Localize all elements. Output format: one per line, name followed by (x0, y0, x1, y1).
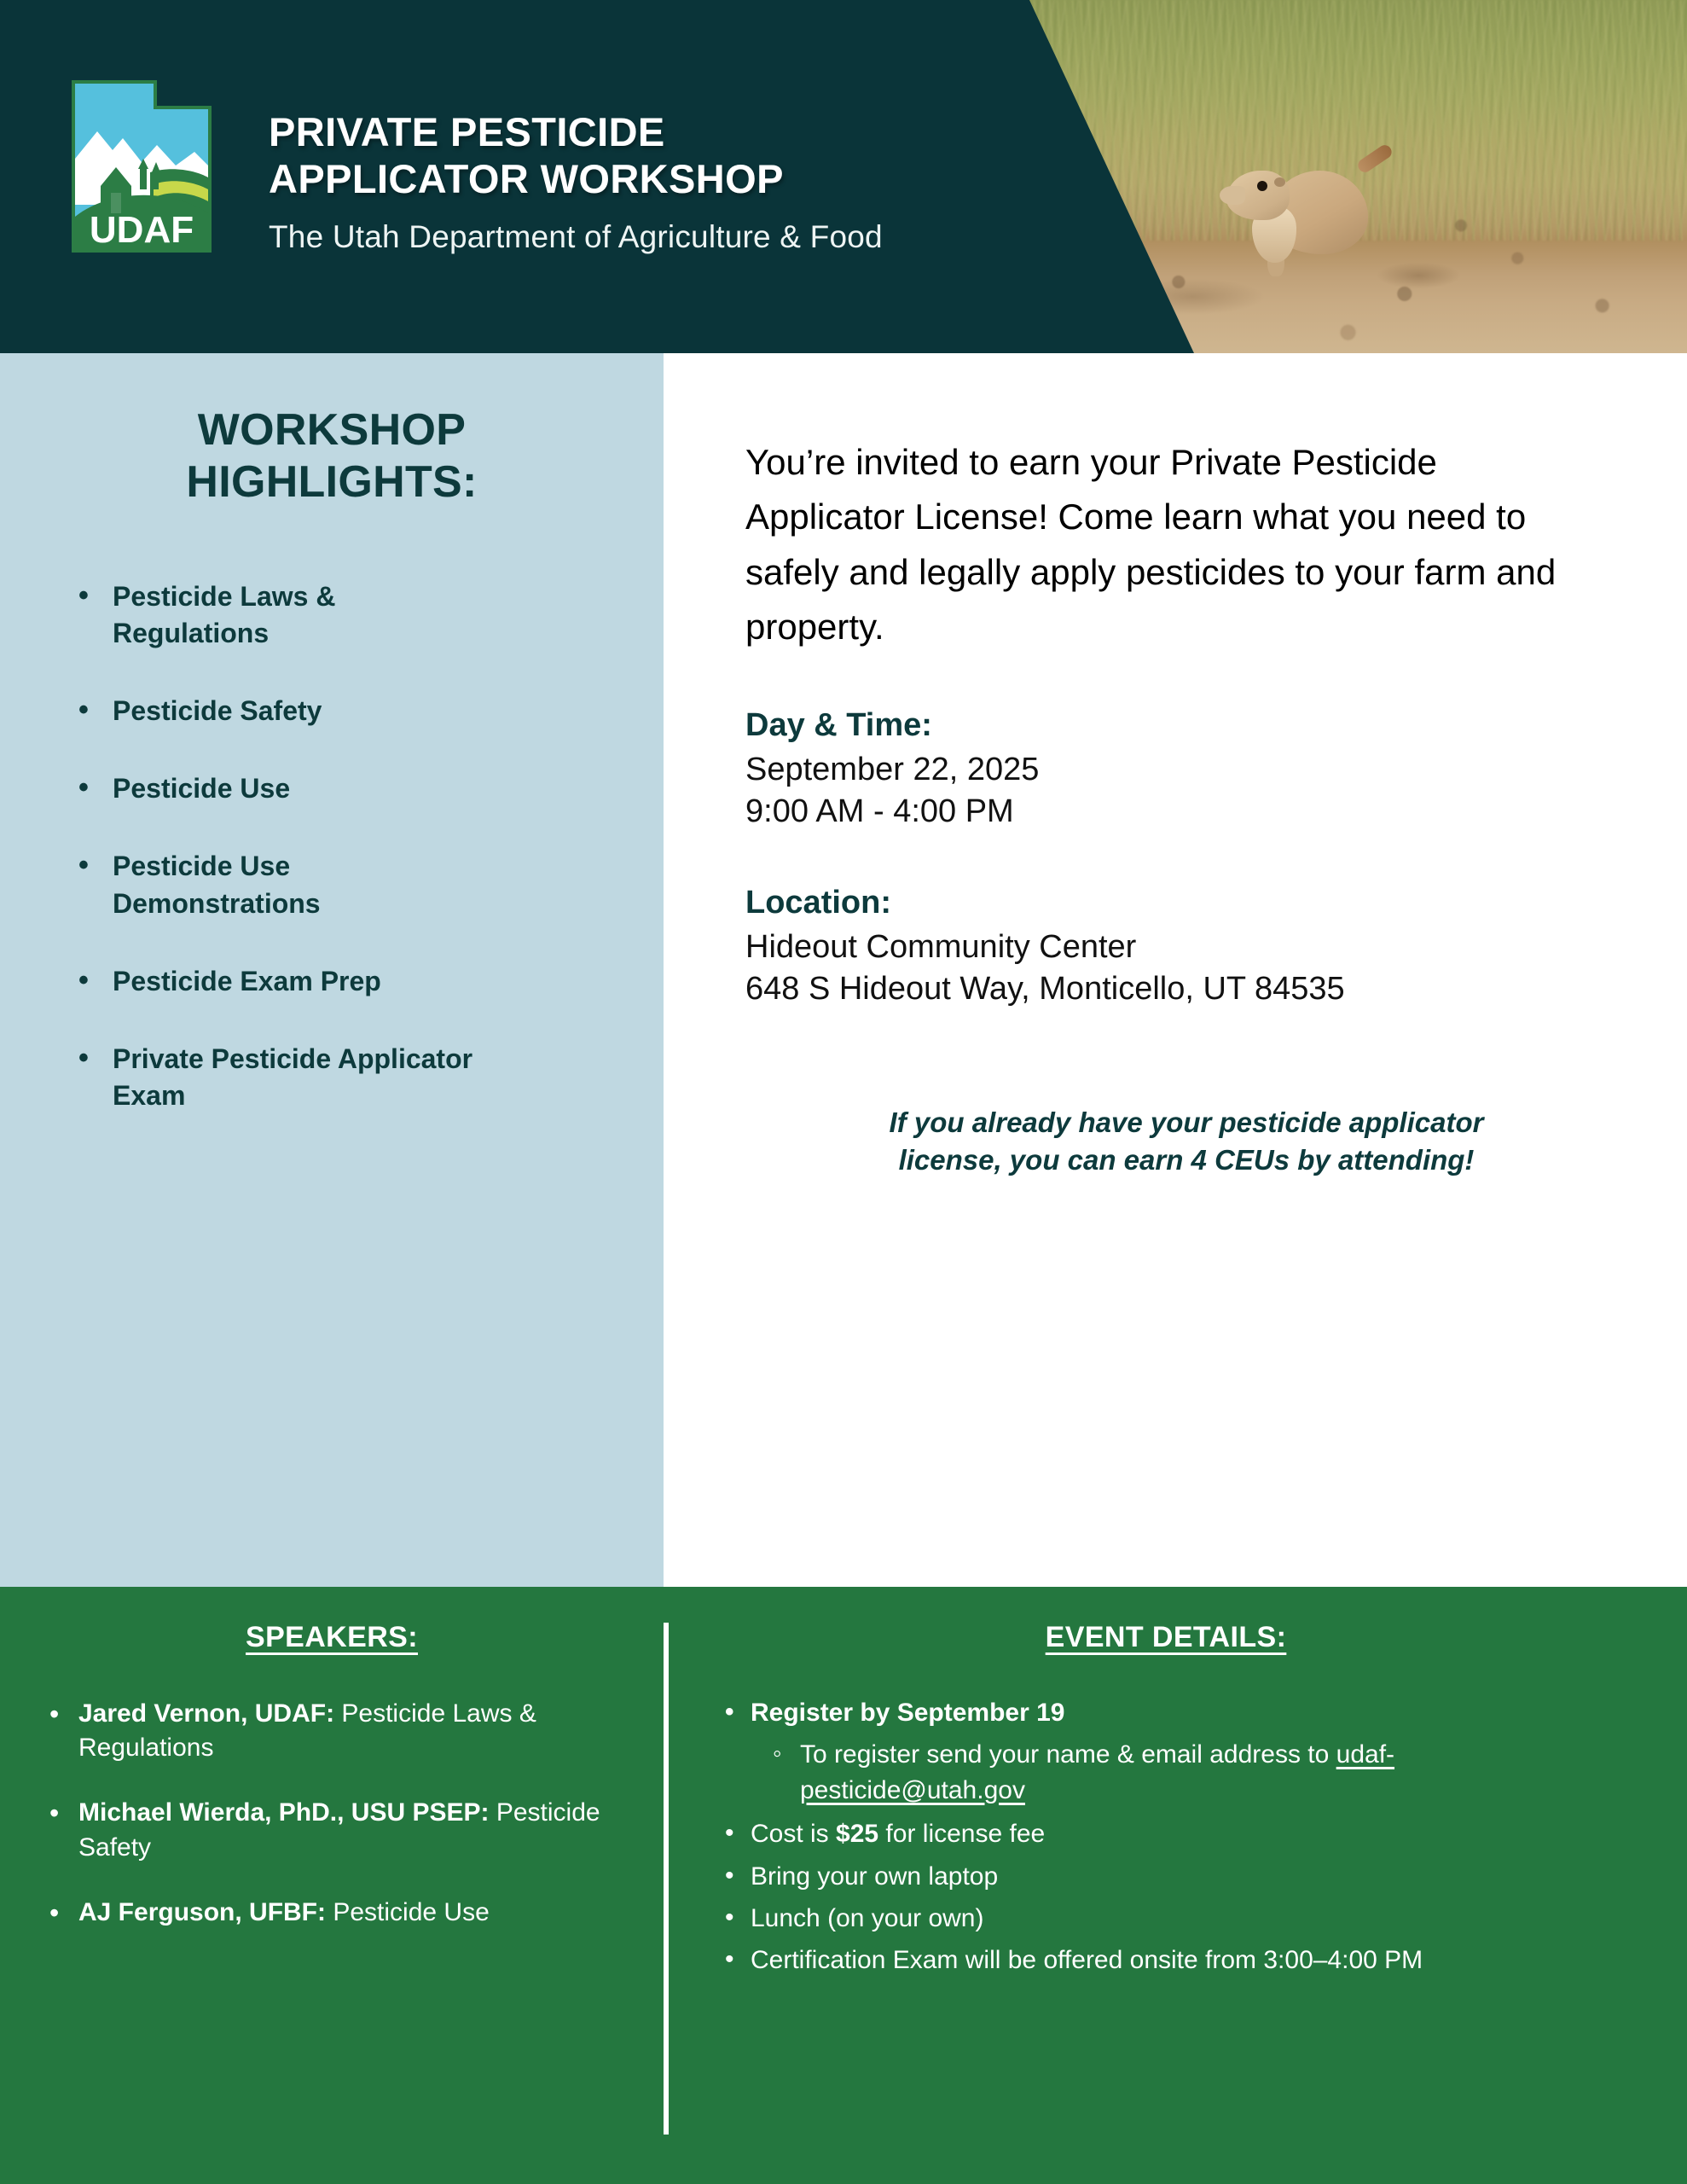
list-item: AJ Ferguson, UFBF: Pesticide Use (78, 1896, 635, 1930)
speakers-heading: SPEAKERS: (29, 1621, 635, 1654)
flyer-page: UDAF PRIVATE PESTICIDE APPLICATOR WORKSH… (0, 0, 1687, 2184)
venue-address: 648 S Hideout Way, Monticello, UT 84535 (745, 968, 1627, 1010)
highlights-list: Pesticide Laws & Regulations Pesticide S… (34, 578, 629, 1115)
event-date: September 22, 2025 (745, 749, 1627, 791)
flyer-title-line-2: APPLICATOR WORKSHOP (269, 156, 1122, 203)
speakers-list: Jared Vernon, UDAF: Pesticide Laws & Reg… (29, 1697, 635, 1930)
list-item: Pesticide Exam Prep (113, 963, 479, 1000)
location-block: Location: Hideout Community Center 648 S… (745, 885, 1627, 1009)
list-item: Michael Wierda, PhD., USU PSEP: Pesticid… (78, 1796, 635, 1864)
speakers-column: SPEAKERS: Jared Vernon, UDAF: Pesticide … (0, 1587, 664, 2184)
workshop-highlights-panel: WORKSHOP HIGHLIGHTS: Pesticide Laws & Re… (0, 353, 664, 1587)
venue-name: Hideout Community Center (745, 926, 1627, 968)
udaf-logo: UDAF (68, 77, 215, 256)
invitation-paragraph: You’re invited to earn your Private Pest… (745, 435, 1598, 654)
footer-band: SPEAKERS: Jared Vernon, UDAF: Pesticide … (0, 1587, 1687, 2184)
list-item: Pesticide Laws & Regulations (113, 578, 479, 652)
sidebar-title-line-2: HIGHLIGHTS: (34, 456, 629, 508)
list-item: Bring your own laptop (751, 1859, 1619, 1894)
event-time: 9:00 AM - 4:00 PM (745, 791, 1627, 833)
prairie-dog-snout (1220, 186, 1245, 205)
register-instructions: To register send your name & email addre… (800, 1740, 1336, 1769)
list-item: Pesticide Use Demonstrations (113, 848, 479, 921)
flyer-title-line-1: PRIVATE PESTICIDE (269, 109, 1122, 156)
speaker-name: AJ Ferguson, UFBF: (78, 1898, 326, 1926)
cost-amount: $25 (836, 1820, 878, 1848)
ceu-note-line-2: license, you can earn 4 CEUs by attendin… (769, 1141, 1603, 1179)
list-item: Lunch (on your own) (751, 1901, 1619, 1936)
main-content: You’re invited to earn your Private Pest… (664, 353, 1687, 1587)
event-details-heading: EVENT DETAILS: (713, 1621, 1619, 1654)
day-time-label: Day & Time: (745, 707, 1627, 744)
header-text-block: PRIVATE PESTICIDE APPLICATOR WORKSHOP Th… (269, 109, 1122, 256)
cost-prefix: Cost is (751, 1820, 836, 1848)
speaker-name: Michael Wierda, PhD., USU PSEP: (78, 1798, 490, 1827)
list-item: Register by September 19 (751, 1695, 1619, 1730)
logo-text: UDAF (90, 209, 194, 251)
prairie-dog-ear (1274, 177, 1285, 187)
list-item: Pesticide Use (113, 770, 479, 807)
list-item: Jared Vernon, UDAF: Pesticide Laws & Reg… (78, 1697, 635, 1765)
list-item: Private Pesticide Applicator Exam (113, 1041, 479, 1114)
list-item: To register send your name & email addre… (800, 1737, 1619, 1808)
list-item: Certification Exam will be offered onsit… (751, 1943, 1619, 1978)
header-banner: UDAF PRIVATE PESTICIDE APPLICATOR WORKSH… (0, 0, 1687, 353)
ceu-note: If you already have your pesticide appli… (745, 1104, 1627, 1179)
event-details-column: EVENT DETAILS: Register by September 19 … (669, 1587, 1687, 2184)
register-sublist: To register send your name & email addre… (751, 1737, 1619, 1808)
sidebar-title: WORKSHOP HIGHLIGHTS: (34, 404, 629, 508)
day-time-block: Day & Time: September 22, 2025 9:00 AM -… (745, 707, 1627, 832)
list-item: Cost is $25 for license fee (751, 1816, 1619, 1851)
cost-suffix: for license fee (878, 1820, 1045, 1848)
list-item: Pesticide Safety (113, 693, 479, 729)
speaker-name: Jared Vernon, UDAF: (78, 1699, 334, 1728)
prairie-dog-eye (1257, 181, 1267, 191)
sidebar-title-line-1: WORKSHOP (34, 404, 629, 456)
prairie-dog-figure (1220, 155, 1390, 283)
ceu-note-line-1: If you already have your pesticide appli… (769, 1104, 1603, 1141)
event-details-list: Register by September 19 To register sen… (713, 1695, 1619, 1978)
flyer-subtitle: The Utah Department of Agriculture & Foo… (269, 218, 1122, 256)
location-label: Location: (745, 885, 1627, 921)
speaker-topic: Pesticide Use (326, 1898, 490, 1926)
